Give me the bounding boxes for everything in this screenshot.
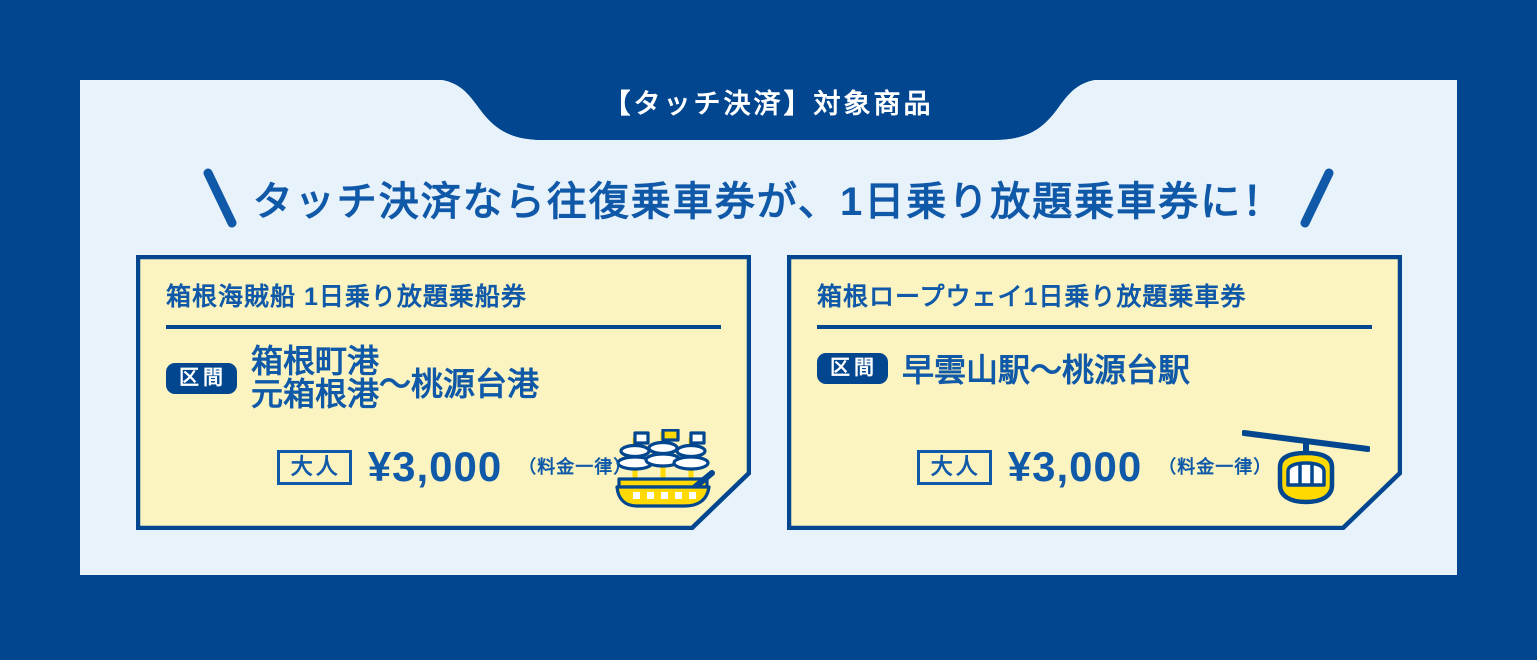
headline-text: タッチ決済なら往復乗車券が、1日乗り放題乗車券に！: [253, 169, 1284, 227]
card-divider: [817, 325, 1372, 329]
route-stack: 箱根町港 元箱根港 〜 桃源台港: [251, 345, 539, 412]
route-full: 早雲山駅〜桃源台駅: [902, 345, 1190, 391]
promo-banner: 【タッチ決済】対象商品 タッチ決済なら往復乗車券が、1日乗り放題乗車券に！ 箱根…: [0, 0, 1537, 660]
card-divider: [166, 325, 721, 329]
header-tab-label: 【タッチ決済】対象商品: [0, 78, 1537, 130]
route-row: 区間 早雲山駅〜桃源台駅: [817, 345, 1372, 391]
fare-amount: ¥3,000: [1008, 446, 1142, 488]
slash-right-icon: [1300, 167, 1334, 229]
route-destination: 桃源台港: [411, 359, 539, 405]
card-title: 箱根海賊船 1日乗り放題乗船券: [166, 277, 721, 313]
fare-row: 大人 ¥3,000 （料金一律）: [136, 446, 751, 488]
fare-note: （料金一律）: [1158, 458, 1272, 476]
segment-badge: 区間: [166, 363, 237, 394]
fare-row: 大人 ¥3,000 （料金一律）: [787, 446, 1402, 488]
route-origin-line-1: 箱根町港: [251, 345, 379, 378]
card-title: 箱根ロープウェイ1日乗り放題乗車券: [817, 277, 1372, 313]
ticket-card-pirate-ship[interactable]: 箱根海賊船 1日乗り放題乗船券 区間 箱根町港 元箱根港 〜 桃源台港: [136, 255, 751, 530]
route-row: 区間 箱根町港 元箱根港 〜 桃源台港: [166, 345, 721, 412]
headline-row: タッチ決済なら往復乗車券が、1日乗り放題乗車券に！: [80, 158, 1457, 238]
route-origin-lines: 箱根町港 元箱根港: [251, 345, 379, 412]
fare-amount: ¥3,000: [368, 446, 502, 488]
ticket-card-list: 箱根海賊船 1日乗り放題乗船券 区間 箱根町港 元箱根港 〜 桃源台港: [136, 255, 1402, 530]
fare-note: （料金一律）: [518, 458, 632, 476]
fare-label: 大人: [277, 450, 352, 485]
fare-label: 大人: [917, 450, 992, 485]
slash-left-icon: [203, 167, 237, 229]
route-tilde: 〜: [379, 359, 411, 405]
route-origin-line-2: 元箱根港: [251, 378, 379, 411]
ticket-card-ropeway[interactable]: 箱根ロープウェイ1日乗り放題乗車券 区間 早雲山駅〜桃源台駅: [787, 255, 1402, 530]
segment-badge: 区間: [817, 353, 888, 384]
